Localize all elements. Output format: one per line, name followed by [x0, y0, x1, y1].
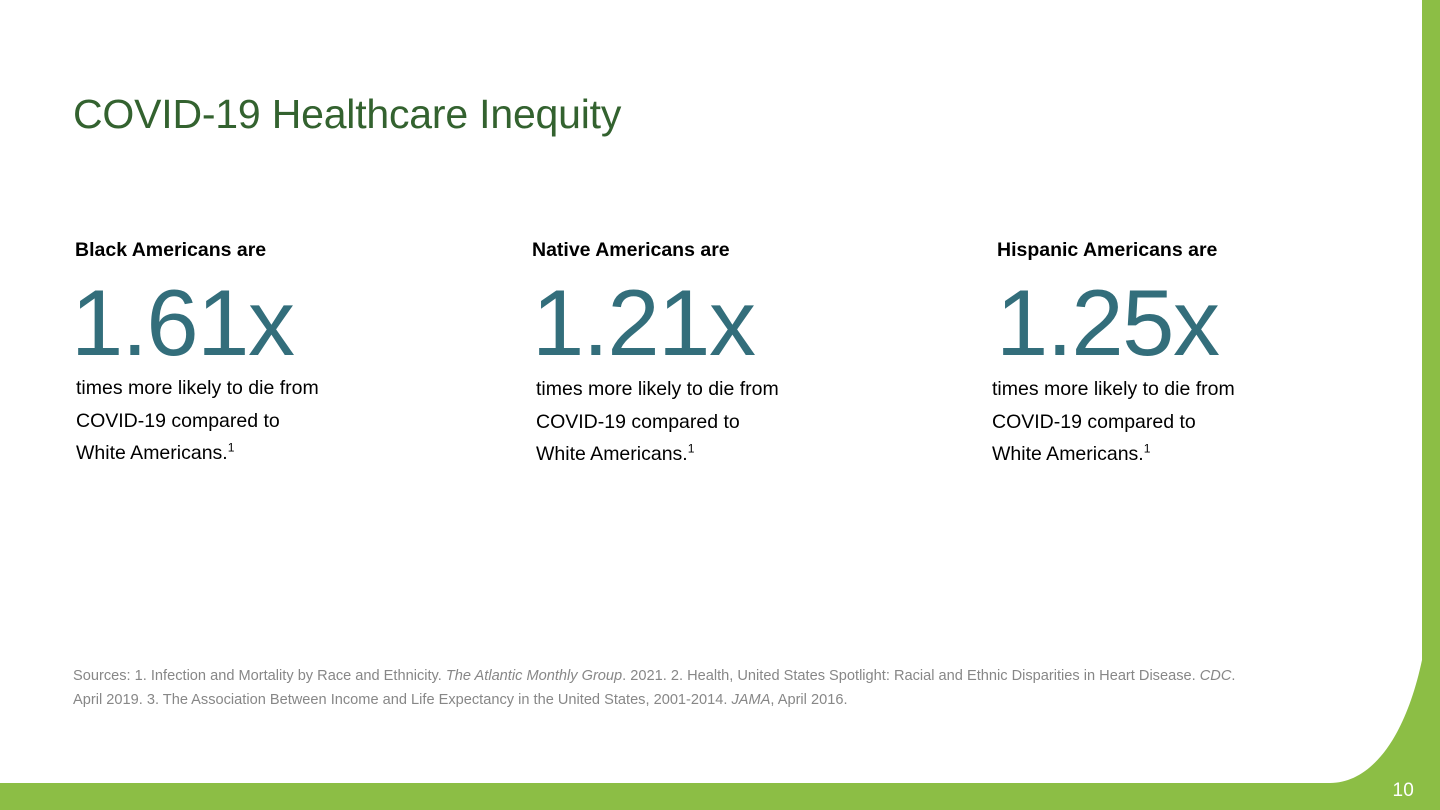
stat-description-text: times more likely to die from COVID-19 c…	[992, 378, 1235, 464]
stat-heading: Hispanic Americans are	[997, 238, 1327, 262]
green-corner-curve	[1330, 660, 1440, 810]
stat-card-black-americans: Black Americans are 1.61x times more lik…	[75, 238, 405, 469]
stat-card-hispanic-americans: Hispanic Americans are 1.25x times more …	[997, 238, 1327, 470]
page-title: COVID-19 Healthcare Inequity	[73, 91, 621, 139]
stat-description: times more likely to die from COVID-19 c…	[536, 373, 786, 470]
stat-description: times more likely to die from COVID-19 c…	[992, 373, 1242, 470]
sources-segment-1: The Atlantic Monthly Group	[446, 668, 622, 684]
sources-segment-6: , April 2016.	[770, 692, 847, 708]
sources-segment-0: Sources: 1. Infection and Mortality by R…	[73, 668, 446, 684]
stat-footnote-marker: 1	[228, 440, 235, 454]
statistics-row: Black Americans are 1.61x times more lik…	[0, 238, 1440, 558]
stat-heading: Black Americans are	[75, 238, 405, 262]
stat-value: 1.25x	[996, 262, 1327, 372]
stat-description-text: times more likely to die from COVID-19 c…	[536, 378, 779, 464]
slide-canvas: 10 COVID-19 Healthcare Inequity Black Am…	[0, 0, 1440, 810]
bottom-green-bar	[0, 783, 1440, 810]
stat-footnote-marker: 1	[688, 441, 695, 455]
sources-segment-5: JAMA	[732, 692, 771, 708]
stat-value: 1.61x	[71, 262, 405, 372]
stat-description: times more likely to die from COVID-19 c…	[76, 372, 326, 469]
sources-segment-3: CDC	[1200, 668, 1232, 684]
stat-footnote-marker: 1	[1144, 441, 1151, 455]
page-number: 10	[1392, 781, 1414, 800]
stat-card-native-americans: Native Americans are 1.21x times more li…	[532, 238, 862, 470]
stat-value: 1.21x	[532, 262, 862, 372]
stat-heading: Native Americans are	[532, 238, 862, 262]
sources-segment-2: . 2021. 2. Health, United States Spotlig…	[622, 668, 1200, 684]
sources-footnote: Sources: 1. Infection and Mortality by R…	[73, 665, 1243, 712]
stat-description-text: times more likely to die from COVID-19 c…	[76, 377, 319, 463]
